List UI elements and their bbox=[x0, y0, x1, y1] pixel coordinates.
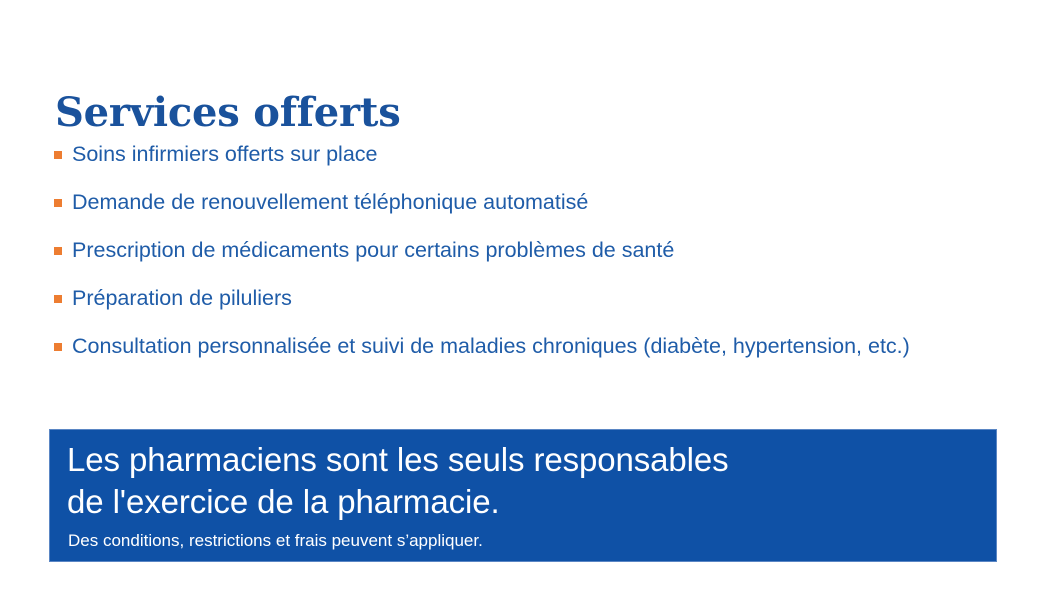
list-item-label: Prescription de médicaments pour certain… bbox=[72, 236, 1034, 264]
list-item: Préparation de piluliers bbox=[54, 284, 1034, 332]
list-item-label: Consultation personnalisée et suivi de m… bbox=[72, 332, 1034, 360]
callout-subline: Des conditions, restrictions et frais pe… bbox=[68, 530, 483, 552]
callout-headline: Les pharmaciens sont les seuls responsab… bbox=[67, 439, 967, 523]
slide-canvas: Services offerts Soins infirmiers offert… bbox=[0, 0, 1050, 600]
services-bullet-list: Soins infirmiers offerts sur place Deman… bbox=[54, 140, 1034, 380]
square-bullet-icon bbox=[54, 199, 62, 207]
square-bullet-icon bbox=[54, 343, 62, 351]
list-item: Prescription de médicaments pour certain… bbox=[54, 236, 1034, 284]
square-bullet-icon bbox=[54, 151, 62, 159]
square-bullet-icon bbox=[54, 247, 62, 255]
list-item-label: Soins infirmiers offerts sur place bbox=[72, 140, 1034, 168]
list-item: Demande de renouvellement téléphonique a… bbox=[54, 188, 1034, 236]
callout-headline-line-1: Les pharmaciens sont les seuls responsab… bbox=[67, 439, 967, 481]
callout-headline-line-2: de l'exercice de la pharmacie. bbox=[67, 481, 967, 523]
page-title: Services offerts bbox=[55, 89, 401, 137]
list-item-label: Préparation de piluliers bbox=[72, 284, 1034, 312]
list-item-label: Demande de renouvellement téléphonique a… bbox=[72, 188, 1034, 216]
square-bullet-icon bbox=[54, 295, 62, 303]
list-item: Consultation personnalisée et suivi de m… bbox=[54, 332, 1034, 380]
list-item: Soins infirmiers offerts sur place bbox=[54, 140, 1034, 188]
disclaimer-callout-box: Les pharmaciens sont les seuls responsab… bbox=[49, 429, 997, 562]
